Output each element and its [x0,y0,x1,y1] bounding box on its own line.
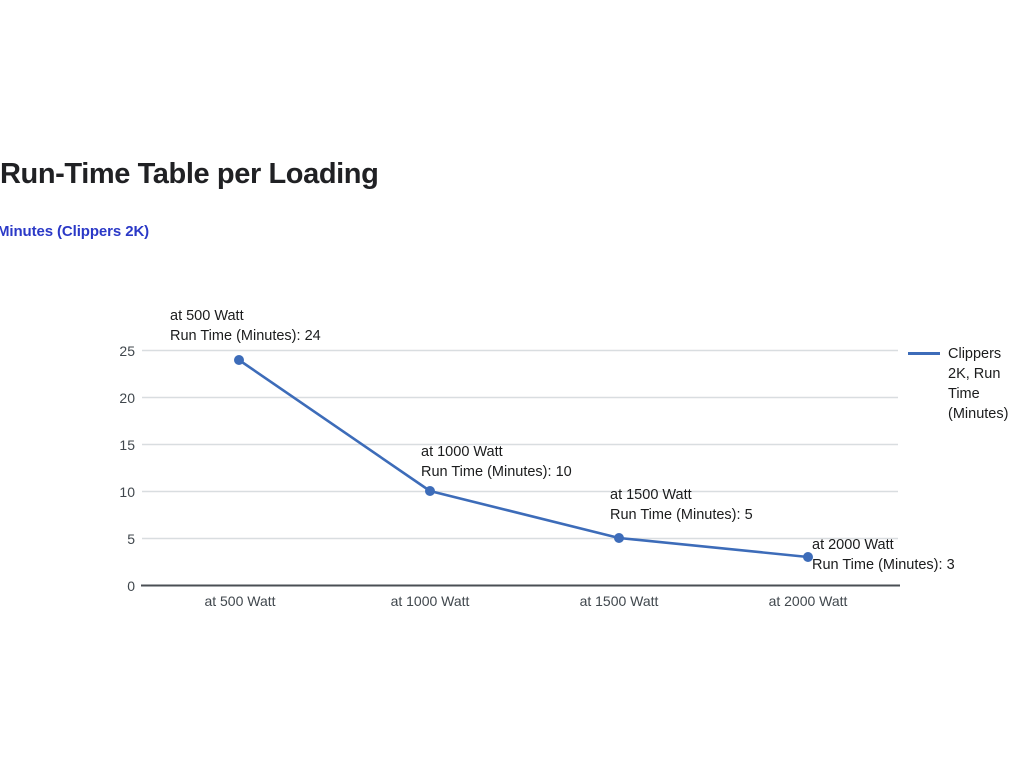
x-tick-label-1000w: at 1000 Watt [335,593,525,609]
data-point-1500w [614,533,624,543]
legend-color-swatch-icon [908,352,940,355]
data-label-1500w-line1: at 1500 Watt [610,485,753,505]
data-label-500w-line1: at 500 Watt [170,306,321,326]
data-label-500w: at 500 Watt Run Time (Minutes): 24 [170,306,321,346]
data-label-2000w-line1: at 2000 Watt [812,535,955,555]
chart-legend: Clippers 2K, Run Time (Minutes) [908,344,1024,424]
data-point-1000w [425,486,435,496]
y-tick-label: 20 [95,391,135,405]
data-label-1000w: at 1000 Watt Run Time (Minutes): 10 [421,442,572,482]
data-label-1500w-line2: Run Time (Minutes): 5 [610,505,753,525]
x-tick-label-500w: at 500 Watt [145,593,335,609]
x-tick-label-1500w: at 1500 Watt [524,593,714,609]
y-tick-label: 15 [95,438,135,452]
line-chart: 25 20 15 10 5 0 at 500 Watt at 1000 Watt… [0,290,1024,620]
data-label-1500w: at 1500 Watt Run Time (Minutes): 5 [610,485,753,525]
y-tick-label: 5 [95,532,135,546]
y-tick-label: 0 [95,579,135,593]
legend-item-label: Clippers 2K, Run Time (Minutes) [948,344,1024,424]
data-point-500w [234,355,244,365]
data-label-1000w-line2: Run Time (Minutes): 10 [421,462,572,482]
y-tick-label: 25 [95,344,135,358]
y-tick-label: 10 [95,485,135,499]
page-title: Run-Time Table per Loading [0,155,800,193]
x-tick-label-2000w: at 2000 Watt [713,593,903,609]
data-label-500w-line2: Run Time (Minutes): 24 [170,326,321,346]
data-label-2000w-line2: Run Time (Minutes): 3 [812,555,955,575]
data-label-1000w-line1: at 1000 Watt [421,442,572,462]
slide-canvas: Run-Time Table per Loading Minutes (Clip… [0,0,1024,768]
data-label-2000w: at 2000 Watt Run Time (Minutes): 3 [812,535,955,575]
chart-subtitle: Minutes (Clippers 2K) [0,221,497,243]
